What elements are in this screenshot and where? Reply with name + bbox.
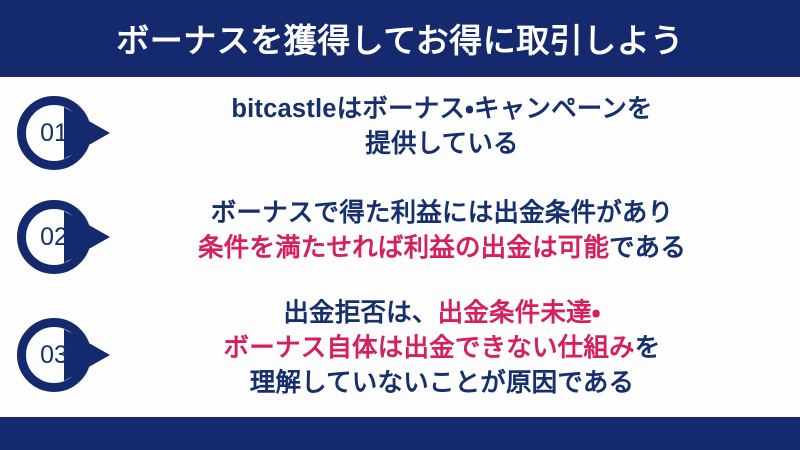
badge-number: 03 [17, 318, 91, 392]
badge-shape: 03 [17, 318, 91, 392]
text-line: bitcastleはボーナス・キャンペーンを [130, 92, 754, 127]
text-line: 条件を満たせれば利益の出金は可能である [130, 231, 754, 266]
list-item: 03 出金拒否は、出金条件未達・ ボーナス自体は出金できない仕組みを 理解してい… [0, 296, 800, 414]
list-item: 02 ボーナスで得た利益には出金条件があり 条件を満たせれば利益の出金は可能であ… [0, 196, 800, 280]
badge-shape: 01 [17, 96, 91, 170]
text-segment: bitcastleはボーナス・キャンペーンを [231, 95, 652, 123]
text-segment-highlight: ボーナス自体は出金できない仕組み [224, 334, 635, 362]
item-text-01: bitcastleはボーナス・キャンペーンを 提供している [130, 92, 800, 162]
text-segment: 提供している [365, 130, 518, 158]
step-badge-02: 02 [0, 196, 130, 270]
list-item: 01 bitcastleはボーナス・キャンペーンを 提供している [0, 92, 800, 176]
badge-number: 02 [17, 200, 91, 274]
text-line: 提供している [130, 127, 754, 162]
text-segment: ボーナスで得た利益には出金条件があり [211, 199, 674, 227]
text-line: ボーナス自体は出金できない仕組みを [130, 331, 754, 366]
text-segment: である [609, 234, 686, 262]
infographic-slide: ボーナスを獲得してお得に取引しよう 01 bitcastleはボーナス・キャンペ… [0, 0, 800, 450]
text-line: 出金拒否は、出金条件未達・ [130, 296, 754, 331]
page-title: ボーナスを獲得してお得に取引しよう [0, 0, 800, 77]
badge-shape: 02 [17, 200, 91, 274]
step-badge-01: 01 [0, 92, 130, 166]
text-segment-highlight: 条件を満たせれば利益の出金は可能 [198, 234, 609, 262]
text-segment-highlight: 出金条件未達・ [438, 299, 601, 327]
badge-number: 01 [17, 96, 91, 170]
footer-bar [0, 417, 800, 450]
text-segment: 出金拒否は、 [283, 299, 437, 327]
text-segment: を [635, 334, 661, 362]
text-segment: 理解していないことが原因である [250, 369, 634, 397]
item-text-02: ボーナスで得た利益には出金条件があり 条件を満たせれば利益の出金は可能である [130, 196, 800, 266]
text-line: ボーナスで得た利益には出金条件があり [130, 196, 754, 231]
step-badge-03: 03 [0, 296, 130, 370]
item-text-03: 出金拒否は、出金条件未達・ ボーナス自体は出金できない仕組みを 理解していないこ… [130, 296, 800, 402]
text-line: 理解していないことが原因である [130, 366, 754, 401]
